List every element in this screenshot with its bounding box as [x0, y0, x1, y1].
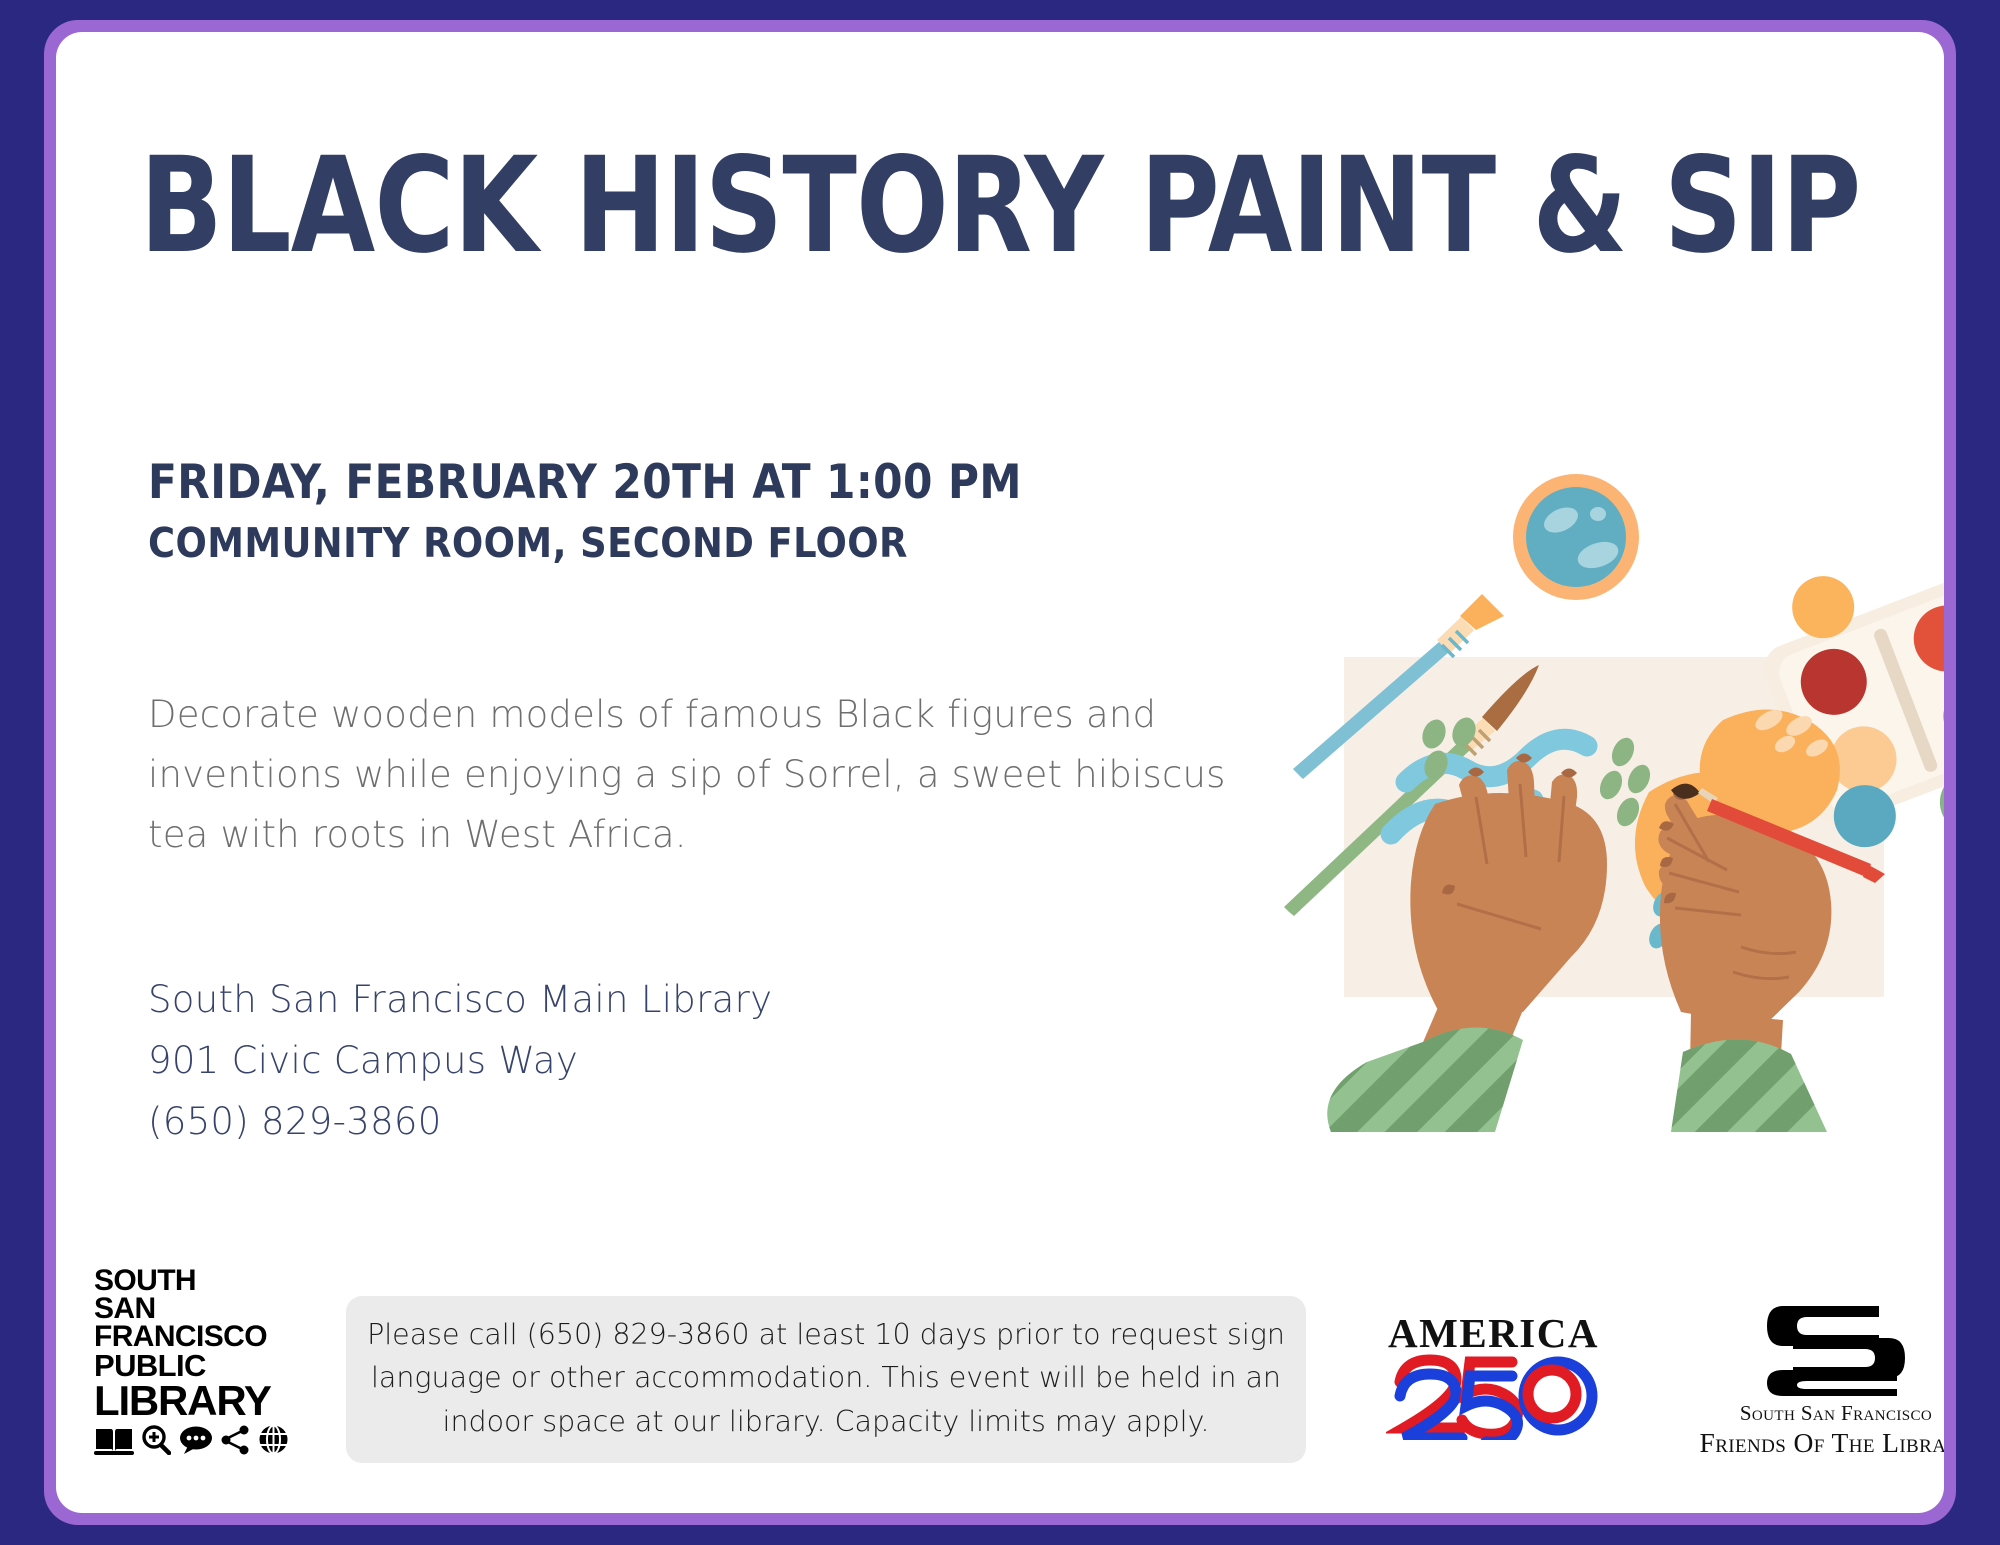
event-datetime: FRIDAY, FEBRUARY 20TH AT 1:00 PM	[148, 452, 1268, 513]
library-logo-line-1: SOUTH	[94, 1267, 324, 1295]
friends-logo-line-1: South San Francisco	[1691, 1401, 1944, 1427]
event-location: COMMUNITY ROOM, SECOND FLOOR	[148, 517, 1268, 570]
venue-name: South San Francisco Main Library	[148, 970, 1268, 1031]
overhead-painting-hands-illustration	[1271, 452, 1944, 1132]
event-description: Decorate wooden models of famous Black f…	[148, 685, 1268, 865]
open-book-icon	[94, 1425, 134, 1455]
content-column: FRIDAY, FEBRUARY 20TH AT 1:00 PM COMMUNI…	[148, 452, 1268, 1152]
left-sleeve	[1281, 992, 1571, 1132]
america-250-logo: AMERICA	[1381, 1313, 1606, 1445]
stacked-books-icon	[1751, 1302, 1921, 1396]
footer: SOUTH SAN FRANCISCO PUBLIC LIBRARY	[56, 1253, 1944, 1513]
america-250-wordmark: AMERICA	[1381, 1313, 1606, 1354]
page-title: BLACK HISTORY PAINT & SIP	[132, 140, 1869, 272]
ssf-public-library-logo: SOUTH SAN FRANCISCO PUBLIC LIBRARY	[94, 1267, 324, 1455]
friends-of-the-library-logo: South San Francisco Friends Of The Libra…	[1691, 1302, 1944, 1459]
speech-bubble-icon	[178, 1425, 214, 1455]
globe-icon	[258, 1424, 289, 1455]
library-logo-icon-row	[94, 1424, 324, 1455]
library-logo-line-2: SAN	[94, 1295, 324, 1323]
magnifier-plus-icon	[141, 1425, 171, 1455]
accessibility-notice: Please call (650) 829-3860 at least 10 d…	[346, 1296, 1306, 1463]
library-logo-line-3: FRANCISCO	[94, 1323, 324, 1351]
venue-block: South San Francisco Main Library 901 Civ…	[148, 970, 1268, 1152]
water-cup	[1513, 474, 1639, 600]
america-250-number	[1386, 1354, 1601, 1440]
poster-card: BLACK HISTORY PAINT & SIP FRIDAY, FEBRUA…	[56, 32, 1944, 1513]
friends-logo-line-2: Friends Of The Library	[1691, 1427, 1944, 1459]
venue-phone: (650) 829-3860	[148, 1092, 1268, 1153]
share-node-icon	[221, 1425, 251, 1455]
poster-root: BLACK HISTORY PAINT & SIP FRIDAY, FEBRUA…	[0, 0, 2000, 1545]
venue-street: 901 Civic Campus Way	[148, 1031, 1268, 1092]
library-logo-line-5: LIBRARY	[94, 1381, 324, 1420]
